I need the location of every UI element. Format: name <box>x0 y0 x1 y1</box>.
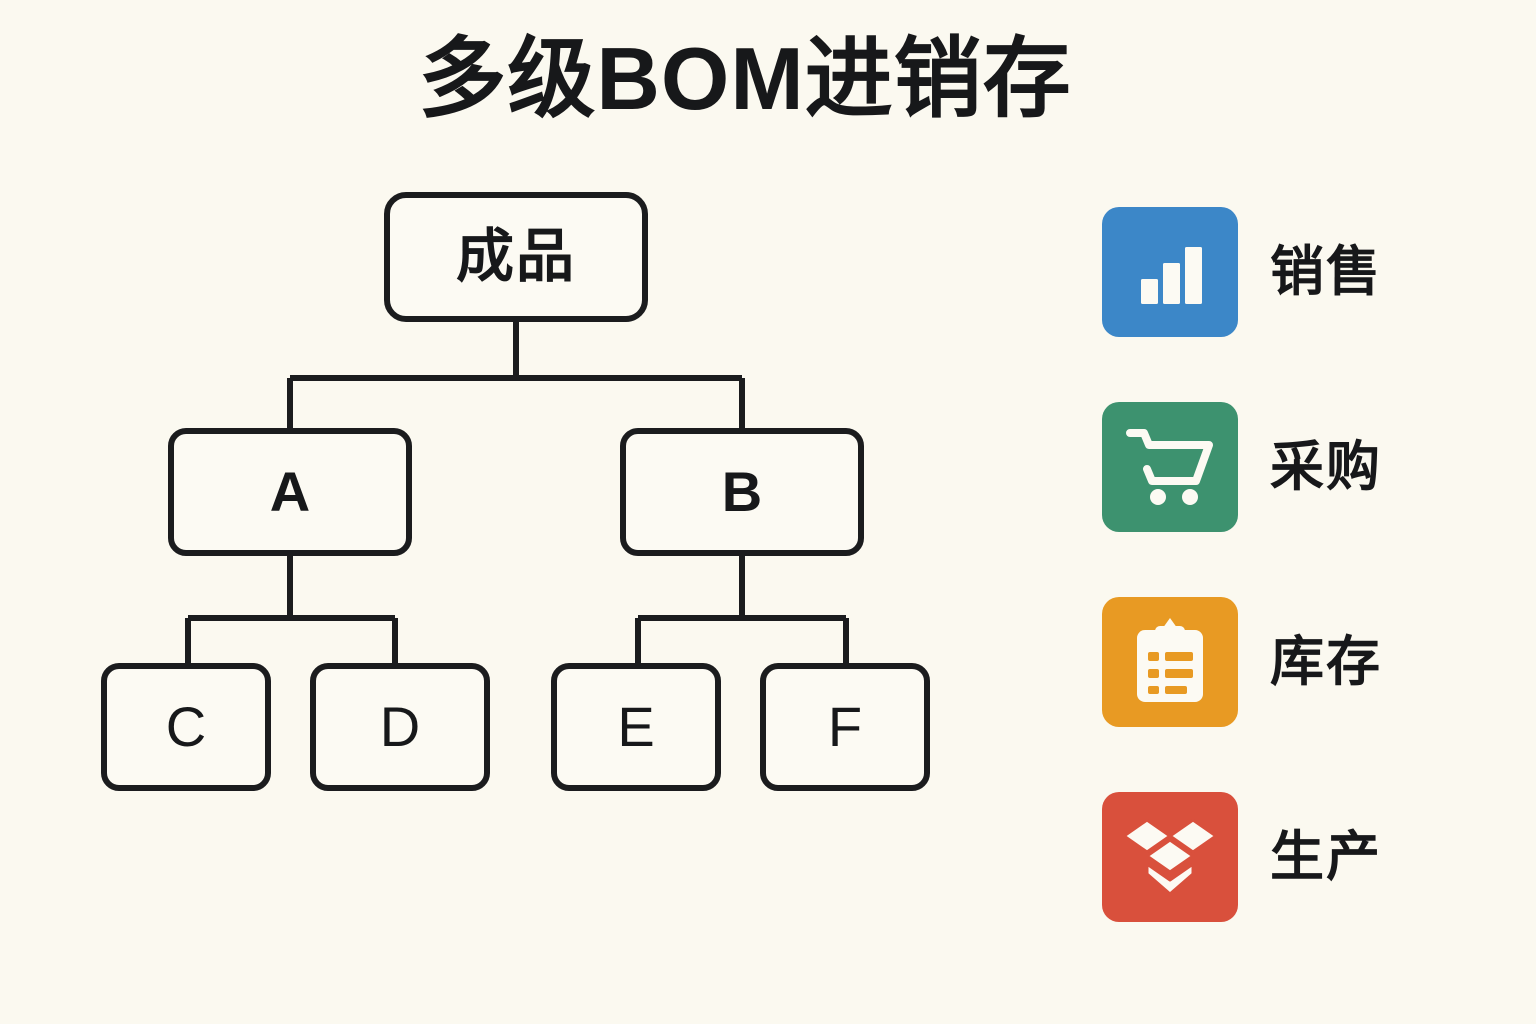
legend-item-sales[interactable]: 销售 <box>1102 207 1382 337</box>
legend-item-inventory[interactable]: 库存 <box>1102 597 1382 727</box>
tree-node-d-label: D <box>380 699 420 755</box>
legend-item-production[interactable]: 生产 <box>1102 792 1382 922</box>
tree-node-e[interactable]: E <box>551 663 721 791</box>
diagram-canvas: 多级BOM进销存 成品 A B <box>0 0 1536 1024</box>
tree-node-root-label: 成品 <box>456 228 576 286</box>
legend-label-inventory: 库存 <box>1270 635 1382 689</box>
legend-label-sales: 销售 <box>1270 245 1382 299</box>
clipboard-list-icon <box>1102 597 1238 727</box>
tree-node-b[interactable]: B <box>620 428 864 556</box>
tree-node-e-label: E <box>617 699 654 755</box>
open-box-icon <box>1102 792 1238 922</box>
legend-item-purchasing[interactable]: 采购 <box>1102 402 1382 532</box>
tree-node-c-label: C <box>166 699 206 755</box>
bar-chart-icon <box>1102 207 1238 337</box>
tree-node-a[interactable]: A <box>168 428 412 556</box>
tree-node-f-label: F <box>828 699 862 755</box>
legend-label-purchasing: 采购 <box>1270 440 1382 494</box>
tree-node-d[interactable]: D <box>310 663 490 791</box>
tree-node-c[interactable]: C <box>101 663 271 791</box>
tree-node-a-label: A <box>270 464 310 520</box>
page-title: 多级BOM进销存 <box>0 28 1490 129</box>
legend-label-production: 生产 <box>1270 830 1382 884</box>
tree-node-f[interactable]: F <box>760 663 930 791</box>
tree-node-b-label: B <box>722 464 762 520</box>
shopping-cart-icon <box>1102 402 1238 532</box>
tree-node-root[interactable]: 成品 <box>384 192 648 322</box>
